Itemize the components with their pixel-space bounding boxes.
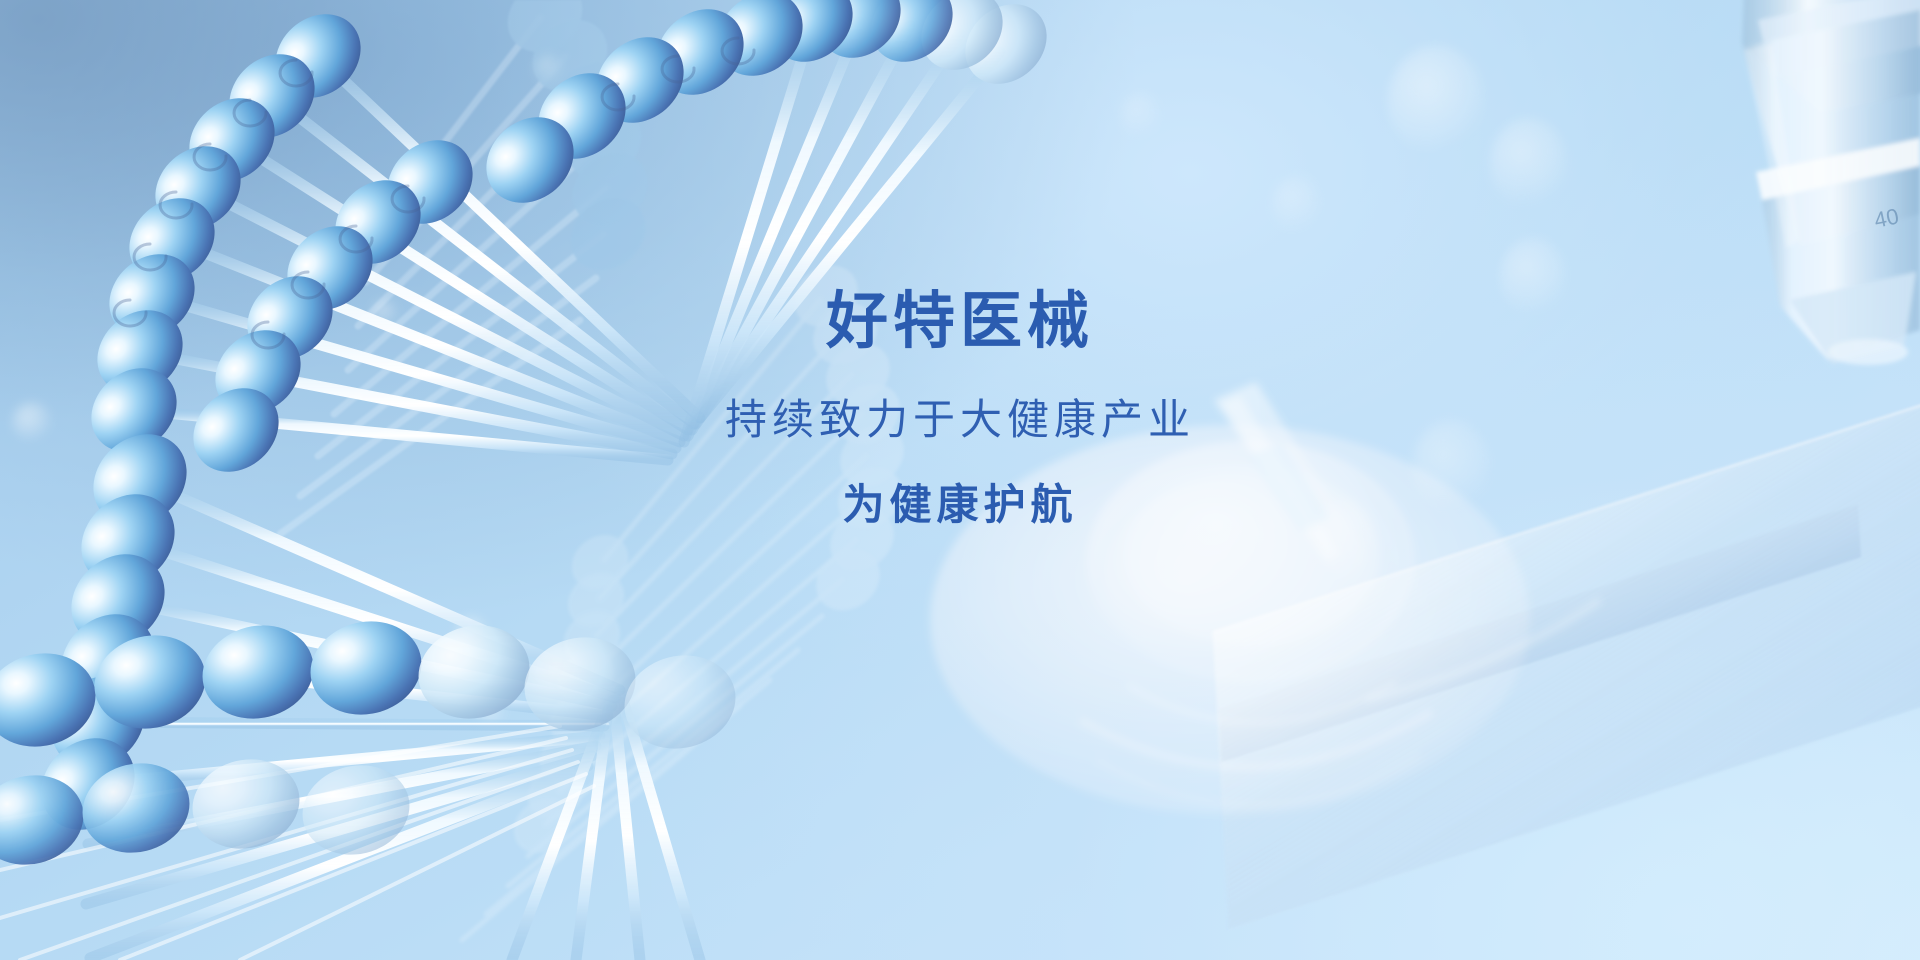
objective-magnification-label: 40 <box>1872 203 1901 233</box>
hero-banner: 40 <box>0 0 1920 960</box>
hero-text-block: 好特医械 持续致力于大健康产业 为健康护航 <box>0 286 1920 530</box>
page-title: 好特医械 <box>0 286 1920 357</box>
brand-tagline: 为健康护航 <box>0 480 1920 530</box>
brand-slogan: 持续致力于大健康产业 <box>0 395 1920 445</box>
